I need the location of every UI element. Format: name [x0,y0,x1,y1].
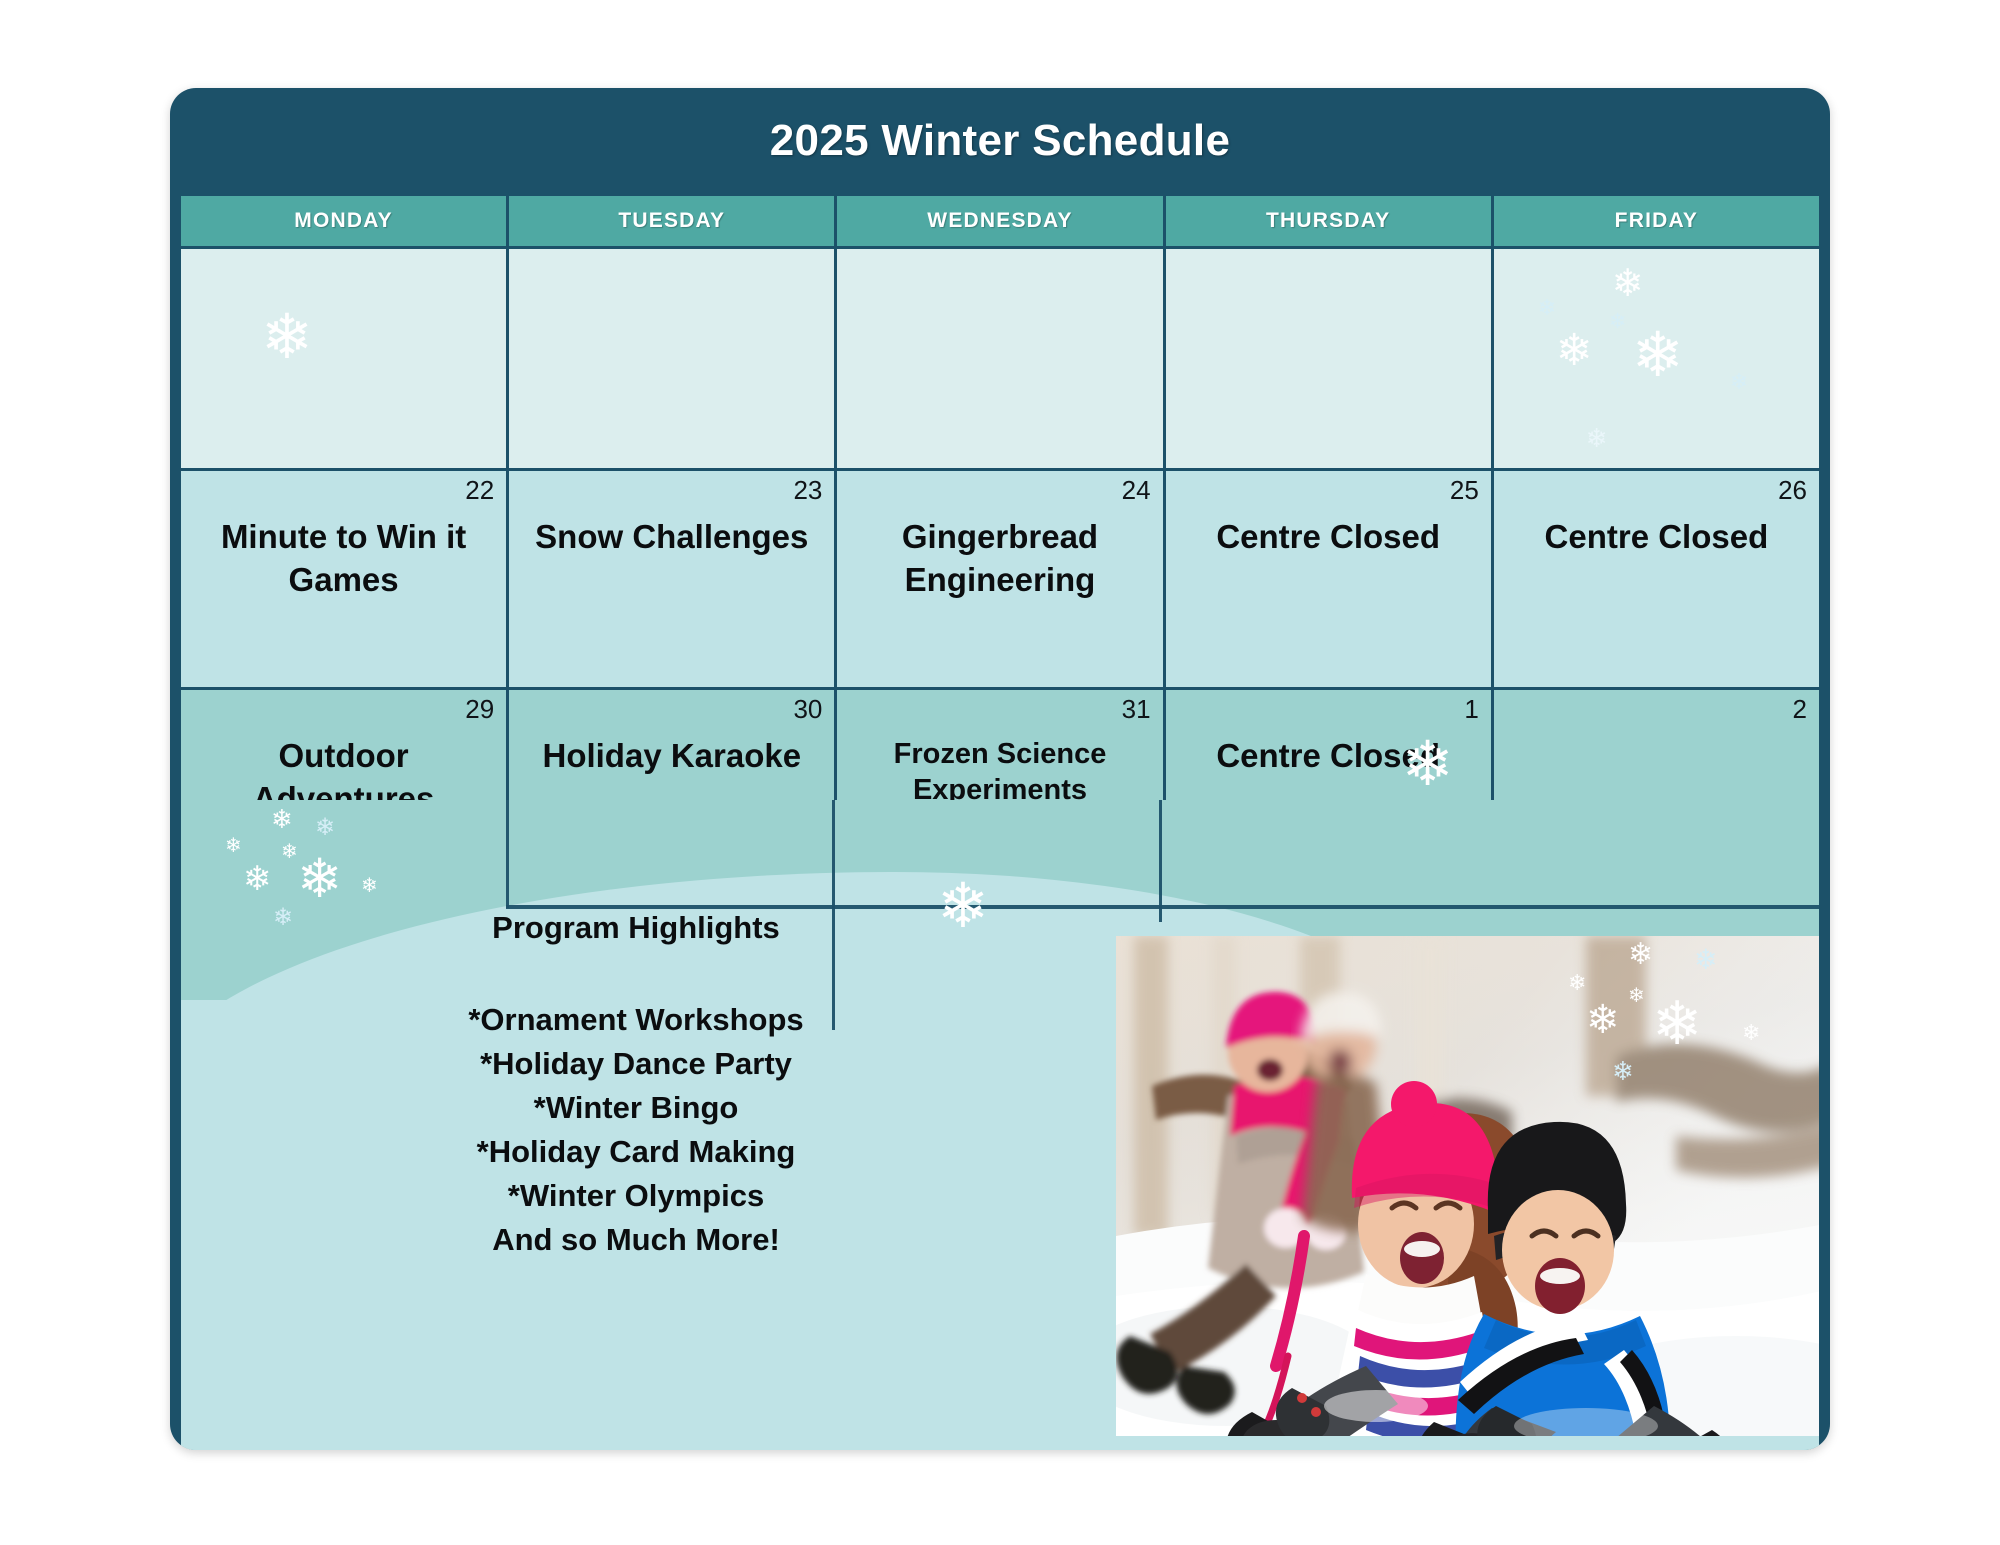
poster-canvas: 2025 Winter Schedule MONDAY TUESDAY WEDN… [0,0,2000,1545]
title-bar: 2025 Winter Schedule [170,88,1830,194]
winter-photo: ❄ ❄ ❄ ❄ ❄ ❄ ❄ ❄ [1116,936,1819,1436]
day-cell[interactable]: ❄ ❄ ❄ ❄ ❄ ❄ ❄ [1494,249,1819,468]
day-event: Centre Closed [1506,516,1807,558]
highlights-title: Program Highlights [241,910,1031,946]
snowflake-icon: ❄ [1632,325,1684,387]
snowflake-icon: ❄ [225,836,242,856]
weekday-label: TUESDAY [618,209,725,233]
program-highlights: Program Highlights *Ornament Workshops *… [241,910,1031,1262]
snowflake-icon: ❄ [297,852,342,906]
snowflake-icon: ❄ [1730,371,1748,393]
week-row: 22 Minute to Win it Games 23 Snow Challe… [181,468,1819,687]
snowflake-icon: ❄ [315,816,335,840]
day-number: 22 [193,477,494,504]
snowflake-icon: ❄ [1556,329,1593,373]
highlight-item: *Holiday Card Making [241,1130,1031,1174]
calendar-frame: 2025 Winter Schedule MONDAY TUESDAY WEDN… [170,88,1830,1450]
day-event: Snow Challenges [521,516,822,558]
weekday-label: FRIDAY [1615,209,1698,233]
day-cell[interactable] [837,249,1162,468]
weekday-header-friday: FRIDAY [1494,194,1819,246]
day-number: 29 [193,696,494,723]
day-cell[interactable]: 24 Gingerbread Engineering [837,471,1162,687]
day-cell[interactable]: 26 Centre Closed [1494,471,1819,687]
snowflake-icon: ❄ [1538,297,1556,319]
highlights-panel: ❄ ❄ ❄ ❄ ❄ ❄ ❄ ❄ ❄ Program Highlights *Or… [181,800,1819,1450]
grid-divider-vertical [506,800,509,908]
day-number: 25 [1178,477,1479,504]
snowflake-icon: ❄ [361,876,378,896]
highlight-item: *Winter Olympics [241,1174,1031,1218]
day-number: 2 [1506,696,1807,723]
day-event: Centre Closed [1178,516,1479,558]
snowflake-icon: ❄ [271,806,293,832]
day-event: Holiday Karaoke [521,735,822,777]
highlight-item: And so Much More! [241,1218,1031,1262]
day-number: 24 [849,477,1150,504]
snowflake-icon: ❄ [1586,425,1608,451]
snowflake-icon: ❄ [261,307,313,369]
weekday-label: WEDNESDAY [927,209,1072,233]
highlight-item: *Holiday Dance Party [241,1042,1031,1086]
weekday-header-row: MONDAY TUESDAY WEDNESDAY THURSDAY FRIDAY [181,194,1819,246]
weekday-header-thursday: THURSDAY [1166,194,1491,246]
day-cell[interactable] [1166,249,1491,468]
day-cell[interactable] [509,249,834,468]
snowflake-icon: ❄ [281,842,298,862]
day-cell[interactable]: ❄ [181,249,506,468]
day-number: 1 [1178,696,1479,723]
day-cell[interactable]: 25 Centre Closed [1166,471,1491,687]
week-row: ❄ ❄ ❄ ❄ ❄ ❄ ❄ [181,246,1819,468]
highlight-item: *Winter Bingo [241,1086,1031,1130]
weekday-label: THURSDAY [1266,209,1390,233]
day-event: Centre Closed [1178,735,1479,777]
day-cell[interactable]: 22 Minute to Win it Games [181,471,506,687]
snowflake-icon: ❄ [1609,311,1627,332]
page-title: 2025 Winter Schedule [770,116,1230,166]
day-number: 23 [521,477,822,504]
day-event: Frozen Science Experiments [849,737,1150,808]
snowflake-icon: ❄ [1612,265,1644,303]
day-number: 31 [849,696,1150,723]
snowflake-icon: ❄ [243,862,272,896]
day-event: Gingerbread Engineering [849,516,1150,600]
grid-divider-vertical [1159,800,1162,922]
day-cell[interactable]: 23 Snow Challenges [509,471,834,687]
day-number: 30 [521,696,822,723]
day-number: 26 [1506,477,1807,504]
weekday-header-tuesday: TUESDAY [509,194,834,246]
grid-divider-horizontal [506,905,1819,909]
weekday-header-wednesday: WEDNESDAY [837,194,1162,246]
day-event: Minute to Win it Games [193,516,494,600]
weekday-header-monday: MONDAY [181,194,506,246]
weekday-label: MONDAY [294,209,393,233]
highlight-item: *Ornament Workshops [241,998,1031,1042]
